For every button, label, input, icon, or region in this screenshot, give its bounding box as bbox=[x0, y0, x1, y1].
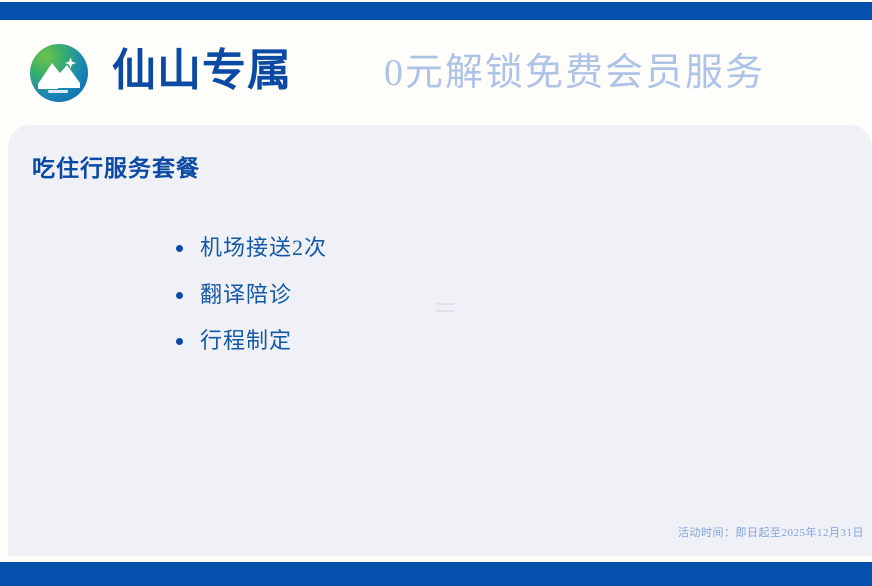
bullet-icon bbox=[176, 292, 183, 299]
poster-header: 仙山专属 0元解锁免费会员服务 bbox=[0, 20, 872, 125]
poster-headline: 0元解锁免费会员服务 bbox=[384, 54, 765, 92]
brand-name-text: 仙山专属 bbox=[112, 46, 292, 95]
benefits-column-right: 顾问全程跟踪 方案对接 海关带关1次 bbox=[448, 233, 872, 556]
list-item-label: 机场接送2次 bbox=[200, 235, 327, 260]
benefits-column-left: 机场接送2次 翻译陪诊 行程制定 bbox=[90, 233, 430, 373]
mountain-sparkle-logo-icon bbox=[30, 44, 88, 102]
column-divider bbox=[436, 303, 454, 317]
list-item-label: 行程制定 bbox=[200, 328, 292, 353]
list-item: 机场接送2次 bbox=[172, 233, 430, 263]
campaign-period-note: 活动时间：即日起至2025年12月31日 bbox=[678, 524, 864, 540]
divider-tick bbox=[436, 310, 454, 312]
list-item-label: 翻译陪诊 bbox=[200, 282, 292, 307]
brand-block: 仙山专属 bbox=[30, 44, 298, 102]
card-title: 吃住行服务套餐 bbox=[32, 149, 200, 183]
bullet-icon bbox=[176, 245, 183, 252]
poster-page: 仙山专属 0元解锁免费会员服务 吃住行服务套餐 机场接送2次 翻译陪诊 bbox=[0, 0, 872, 586]
benefit-list-left: 机场接送2次 翻译陪诊 行程制定 bbox=[172, 233, 430, 356]
bullet-icon bbox=[176, 338, 183, 345]
service-package-card: 吃住行服务套餐 机场接送2次 翻译陪诊 行程制定 bbox=[8, 125, 872, 556]
list-item: 翻译陪诊 bbox=[172, 280, 430, 310]
brand-name: 仙山专属 bbox=[106, 49, 298, 97]
divider-tick bbox=[436, 303, 454, 305]
bottom-accent-bar bbox=[0, 562, 872, 586]
list-item: 行程制定 bbox=[172, 326, 430, 356]
top-accent-bar bbox=[0, 2, 872, 20]
